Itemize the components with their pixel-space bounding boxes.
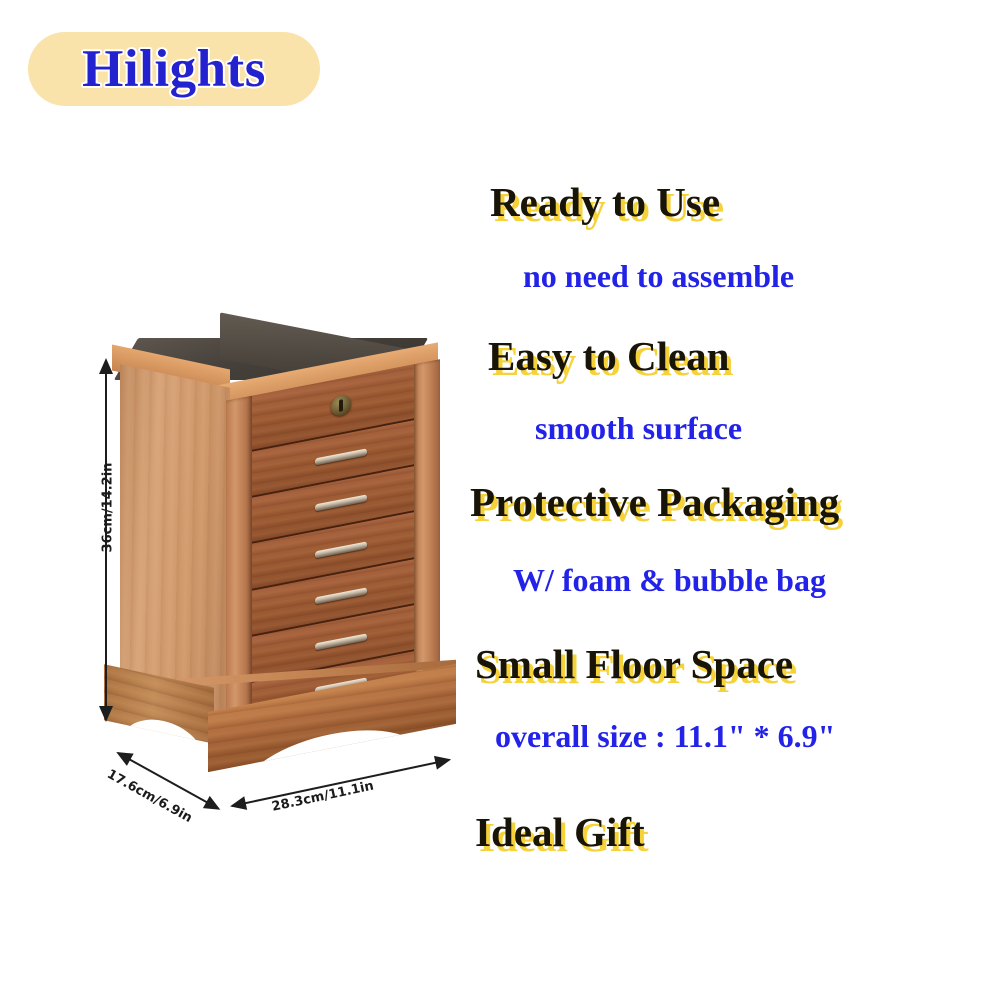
drawer-handle-icon bbox=[315, 587, 367, 604]
feature-heading-ready-to-use: Ready to Use bbox=[490, 178, 720, 226]
drawer-handle-icon bbox=[315, 495, 367, 512]
product-illustration bbox=[90, 320, 490, 830]
highlights-badge: Hilights bbox=[28, 32, 320, 106]
infographic-page: Hilights bbox=[0, 0, 1000, 1000]
cabinet-side-woodgrain bbox=[120, 364, 230, 717]
cabinet-side-panel bbox=[120, 364, 230, 717]
drawer-handle-icon bbox=[315, 449, 367, 466]
feature-heading-protective-packaging: Protective Packaging bbox=[470, 478, 839, 526]
feature-heading-small-floor-space: Small Floor Space bbox=[475, 640, 793, 688]
feature-subtext-small-floor-space: overall size : 11.1" * 6.9" bbox=[495, 718, 835, 755]
feature-subtext-easy-to-clean: smooth surface bbox=[535, 410, 742, 447]
feature-subtext-protective-packaging: W/ foam & bubble bag bbox=[513, 562, 826, 599]
lock-keyhole-icon bbox=[331, 394, 351, 418]
feature-heading-ideal-gift: Ideal Gift bbox=[475, 808, 645, 856]
feature-heading-easy-to-clean: Easy to Clean bbox=[488, 332, 729, 380]
dimension-height-label: 36cm/14.2in bbox=[101, 448, 116, 568]
cabinet-pilaster-right bbox=[414, 359, 440, 694]
arrow-head-down-icon bbox=[99, 706, 113, 722]
drawer-handle-icon bbox=[315, 541, 367, 558]
drawer-handle-icon bbox=[315, 633, 367, 650]
feature-subtext-ready-to-use: no need to assemble bbox=[523, 258, 794, 295]
feature-list: Ready to Use no need to assemble Easy to… bbox=[455, 0, 1000, 1000]
highlights-badge-label: Hilights bbox=[28, 32, 320, 106]
